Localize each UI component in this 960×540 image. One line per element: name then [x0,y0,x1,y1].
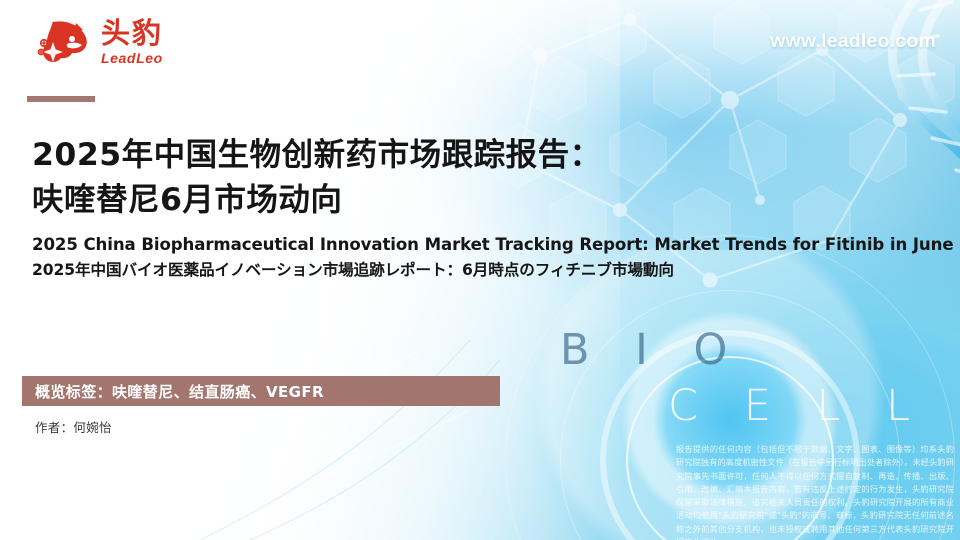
author-line: 作者：何婉怡 [35,417,112,436]
title-block: 2025年中国生物创新药市场跟踪报告： 呋喹替尼6月市场动向 2025 Chin… [32,133,954,280]
overview-tags-text: 概览标签：呋喹替尼、结直肠癌、VEGFR [22,381,324,402]
watermark-line-cell: C E L L [668,381,926,431]
disclaimer-text: 报告提供的任何内容（包括但不限于数据、文字、图表、图像等）均系头豹研究院独有的高… [676,443,954,540]
accent-divider-bar [27,96,95,102]
overview-tags-bar: 概览标签：呋喹替尼、结直肠癌、VEGFR [22,376,500,406]
subtitle-japanese: 2025年中国バイオ医薬品イノベーション市場追跡レポート：6月時点のフィチニブ市… [32,258,954,280]
page-title-line-2: 呋喹替尼6月市场动向 [32,178,954,223]
logo-text-block: 头豹 LeadLeo [101,19,163,65]
logo-chinese-name: 头豹 [101,19,163,48]
leopard-head-icon [36,18,92,66]
website-url[interactable]: www.leadleo.com [770,30,936,53]
brand-logo[interactable]: 头豹 LeadLeo [36,18,163,66]
subtitle-english: 2025 China Biopharmaceutical Innovation … [32,235,954,254]
biocell-watermark: B I O C E L L [560,325,926,431]
report-cover-slide: B I O C E L L [0,0,960,540]
page-title-line-1: 2025年中国生物创新药市场跟踪报告： [32,133,954,178]
logo-english-name: LeadLeo [101,51,163,65]
watermark-line-bio: B I O [560,325,926,375]
